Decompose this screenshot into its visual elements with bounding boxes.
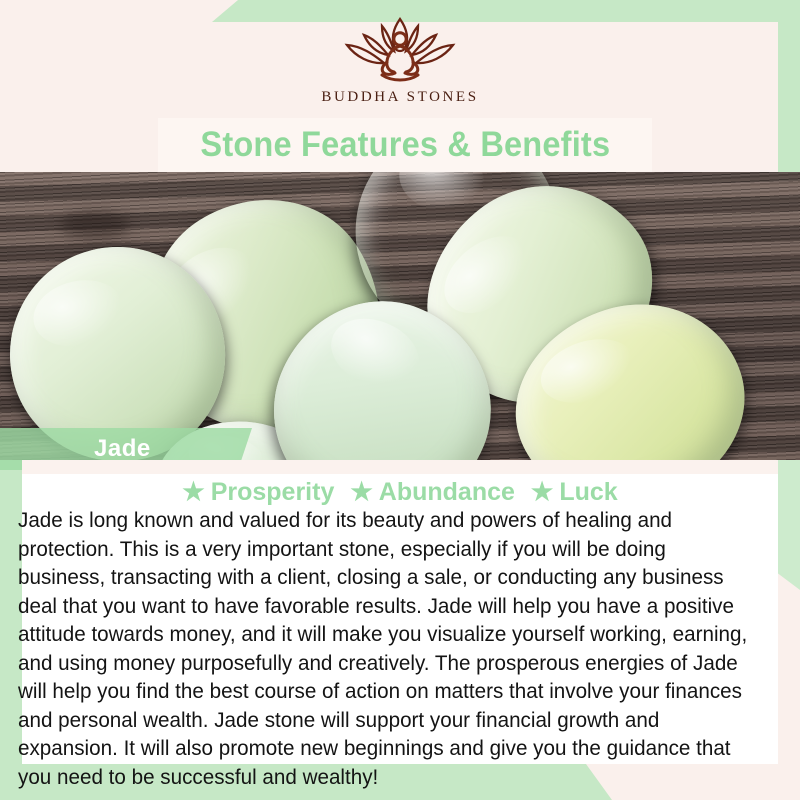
- infographic-card: BUDDHA STONES Stone Features & Benefits …: [0, 0, 800, 800]
- title-banner: Stone Features & Benefits: [158, 118, 652, 172]
- keyword-abundance: ★ Abundance: [350, 478, 515, 507]
- keyword-luck: ★ Luck: [531, 478, 618, 507]
- stone-description-text: Jade is long known and valued for its be…: [18, 506, 753, 791]
- star-icon: ★: [182, 480, 204, 505]
- page-title: Stone Features & Benefits: [200, 125, 610, 165]
- brand-wordmark: BUDDHA STONES: [321, 89, 478, 106]
- keyword-list: ★ Prosperity ★ Abundance ★ Luck: [0, 478, 800, 507]
- stone-name-label: Jade: [94, 435, 151, 463]
- star-icon: ★: [531, 480, 553, 505]
- keyword-label: Prosperity: [211, 478, 335, 507]
- keyword-prosperity: ★ Prosperity: [182, 478, 334, 507]
- star-icon: ★: [350, 480, 372, 505]
- lotus-meditation-figure-icon: [325, 15, 475, 87]
- brand-logo: BUDDHA STONES: [0, 0, 800, 120]
- jade-stones-photo: [0, 172, 800, 460]
- keyword-label: Abundance: [379, 478, 515, 507]
- wood-grain-detail: [60, 212, 130, 238]
- description-panel-top-tint: [22, 460, 778, 474]
- keyword-label: Luck: [559, 478, 617, 507]
